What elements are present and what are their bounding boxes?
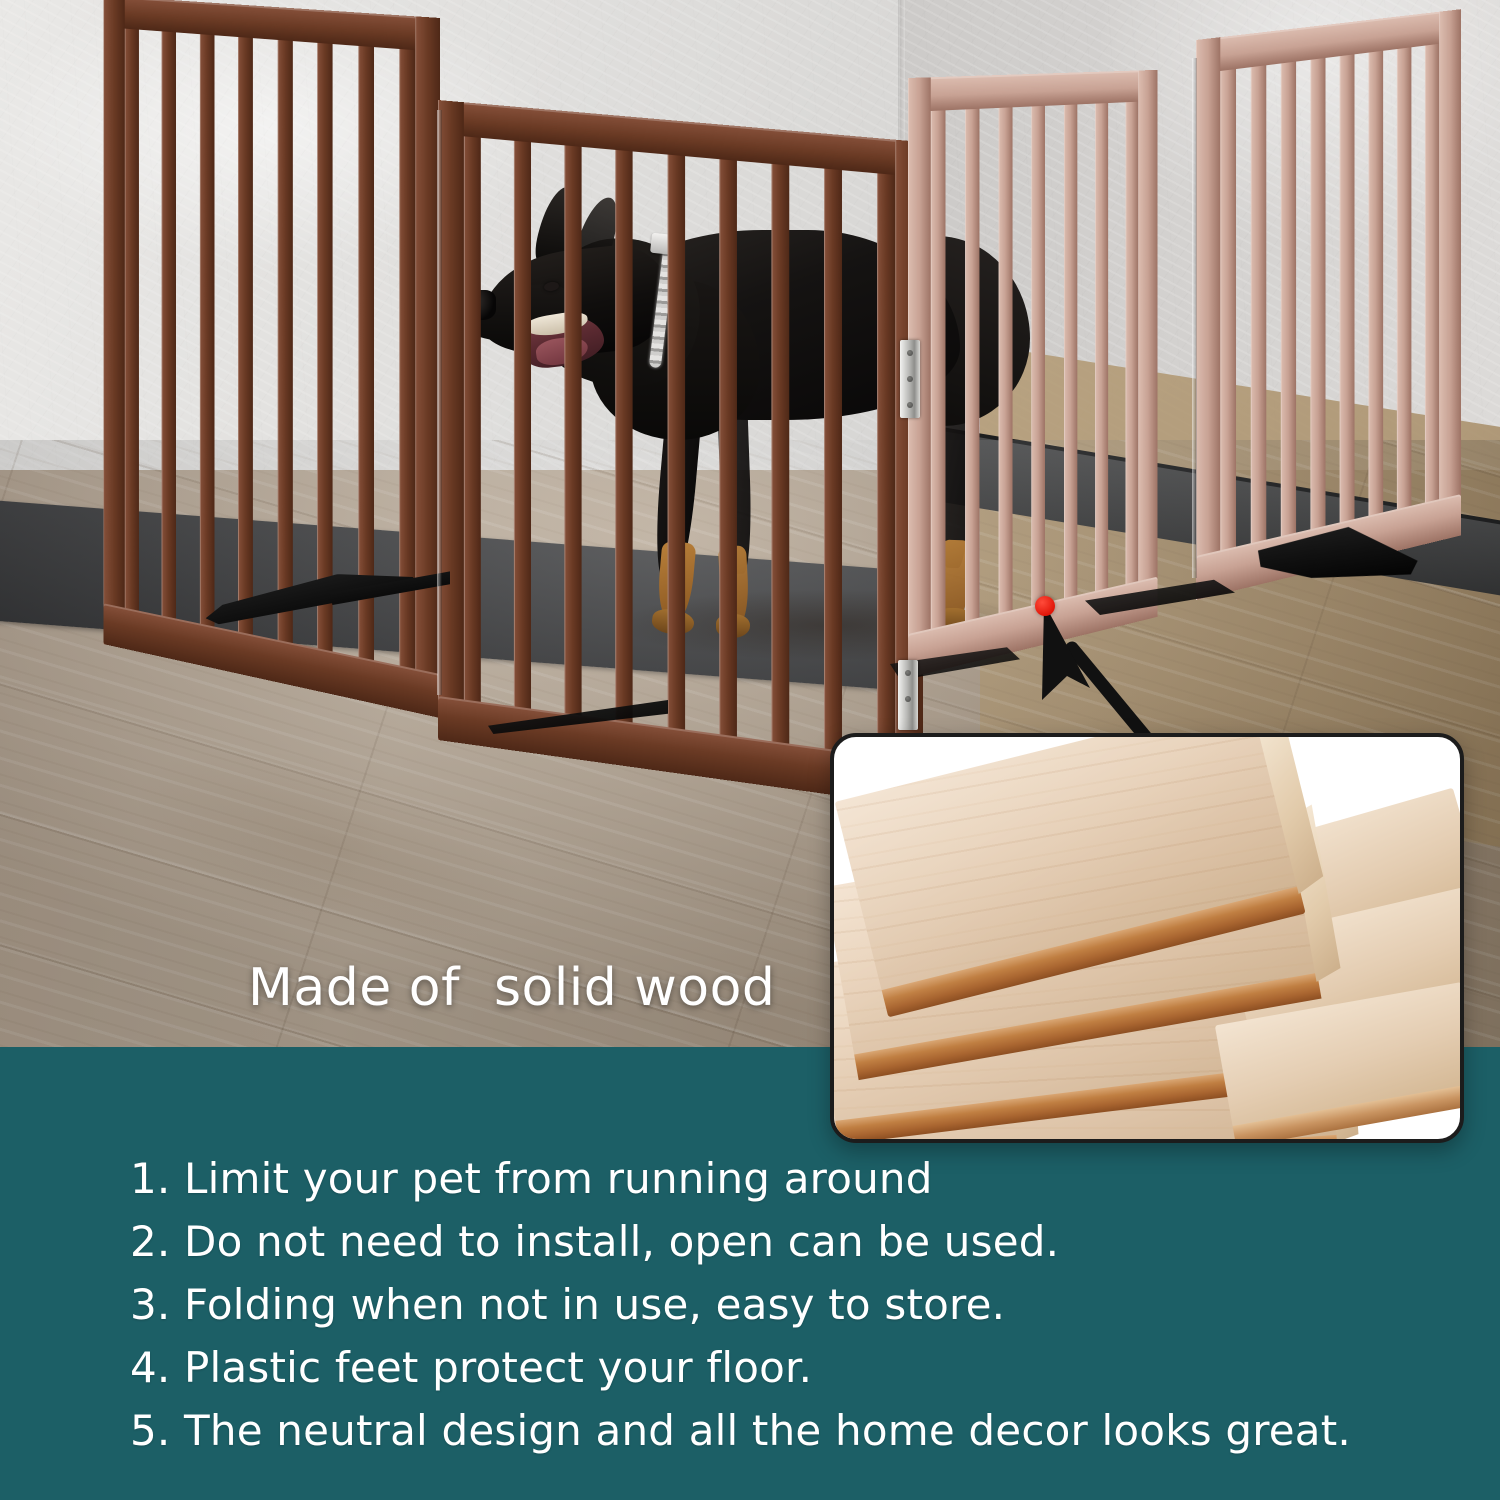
feature-list: 1. Limit your pet from running around 2.…	[130, 1147, 1450, 1462]
list-item: 2. Do not need to install, open can be u…	[130, 1210, 1450, 1273]
list-item: 4. Plastic feet protect your floor.	[130, 1336, 1450, 1399]
wood-material-inset-photo	[830, 733, 1464, 1143]
product-feature-image: Made of solid wood	[0, 0, 1500, 1500]
wood-board-stack	[834, 737, 1460, 1139]
list-item: 1. Limit your pet from running around	[130, 1147, 1450, 1210]
headline-made-of-solid-wood: Made of solid wood	[248, 958, 775, 1018]
material-highlight-dot	[1035, 596, 1055, 616]
list-item: 5. The neutral design and all the home d…	[130, 1399, 1450, 1462]
list-item: 3. Folding when not in use, easy to stor…	[130, 1273, 1450, 1336]
